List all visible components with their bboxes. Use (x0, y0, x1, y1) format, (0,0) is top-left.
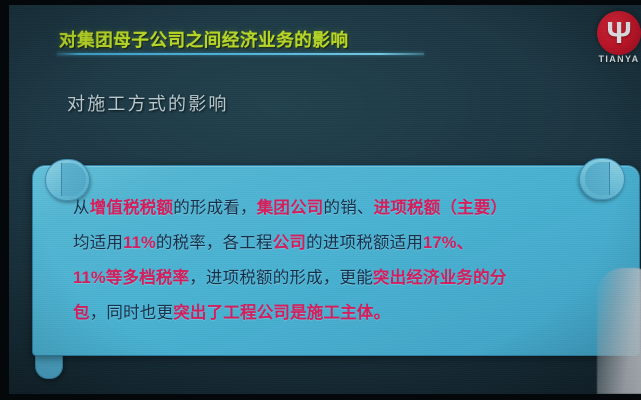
emphasis-text: 突出经济业务的分 (373, 269, 507, 287)
logo-caption: TIANYA (591, 54, 641, 64)
presentation-slide: 对集团母子公司之间经济业务的影响 对施工方式的影响 从增值税税额的形成看，集团公… (9, 5, 641, 394)
logo-disc-icon: Ψ (597, 11, 641, 55)
emphasis-text: 进项税额（主要） (374, 199, 508, 217)
frame-bezel-left (0, 0, 9, 400)
panel-text-line: 从增值税税额的形成看，集团公司的销、进项税额（主要） (73, 191, 625, 226)
emphasis-text: 11%等多档税率 (73, 269, 189, 287)
body-text: 的销、 (324, 199, 374, 217)
slide-subtitle: 对施工方式的影响 (67, 90, 229, 116)
title-underline (57, 53, 424, 55)
lecture-video-frame: 对集团母子公司之间经济业务的影响 对施工方式的影响 从增值税税额的形成看，集团公… (0, 0, 641, 400)
body-text: 从 (73, 199, 90, 217)
emphasis-text: 公司 (273, 234, 306, 252)
body-text: 的形成看， (173, 199, 257, 217)
station-logo: Ψ TIANYA (591, 11, 641, 69)
psi-icon: Ψ (597, 11, 641, 55)
emphasis-text: 突出了工程公司是施工主体。 (173, 304, 390, 322)
emphasis-text: 集团公司 (257, 199, 324, 217)
panel-text-line: 均适用11%的税率，各工程公司的进项税额适用17%、 (73, 226, 625, 261)
page-title: 对集团母子公司之间经济业务的影响 (59, 27, 349, 52)
emphasis-text: 17%、 (423, 234, 473, 252)
body-text: ，进项税额的形成，更能 (189, 269, 373, 287)
body-text: 均适用 (73, 234, 123, 252)
emphasis-text: 包 (73, 304, 90, 322)
body-text: 的进项税额适用 (306, 234, 423, 252)
panel-text-line: 包，同时也更突出了工程公司是施工主体。 (73, 296, 625, 331)
emphasis-text: 11% (123, 234, 156, 252)
body-text: ，同时也更 (90, 304, 174, 322)
emphasis-text: 增值税税额 (90, 199, 174, 217)
body-text: 的税率，各工程 (156, 234, 273, 252)
frame-bezel-bottom (0, 394, 641, 400)
panel-text-line: 11%等多档税率，进项税额的形成，更能突出经济业务的分 (73, 261, 625, 296)
panel-body-text: 从增值税税额的形成看，集团公司的销、进项税额（主要）均适用11%的税率，各工程公… (73, 191, 625, 331)
